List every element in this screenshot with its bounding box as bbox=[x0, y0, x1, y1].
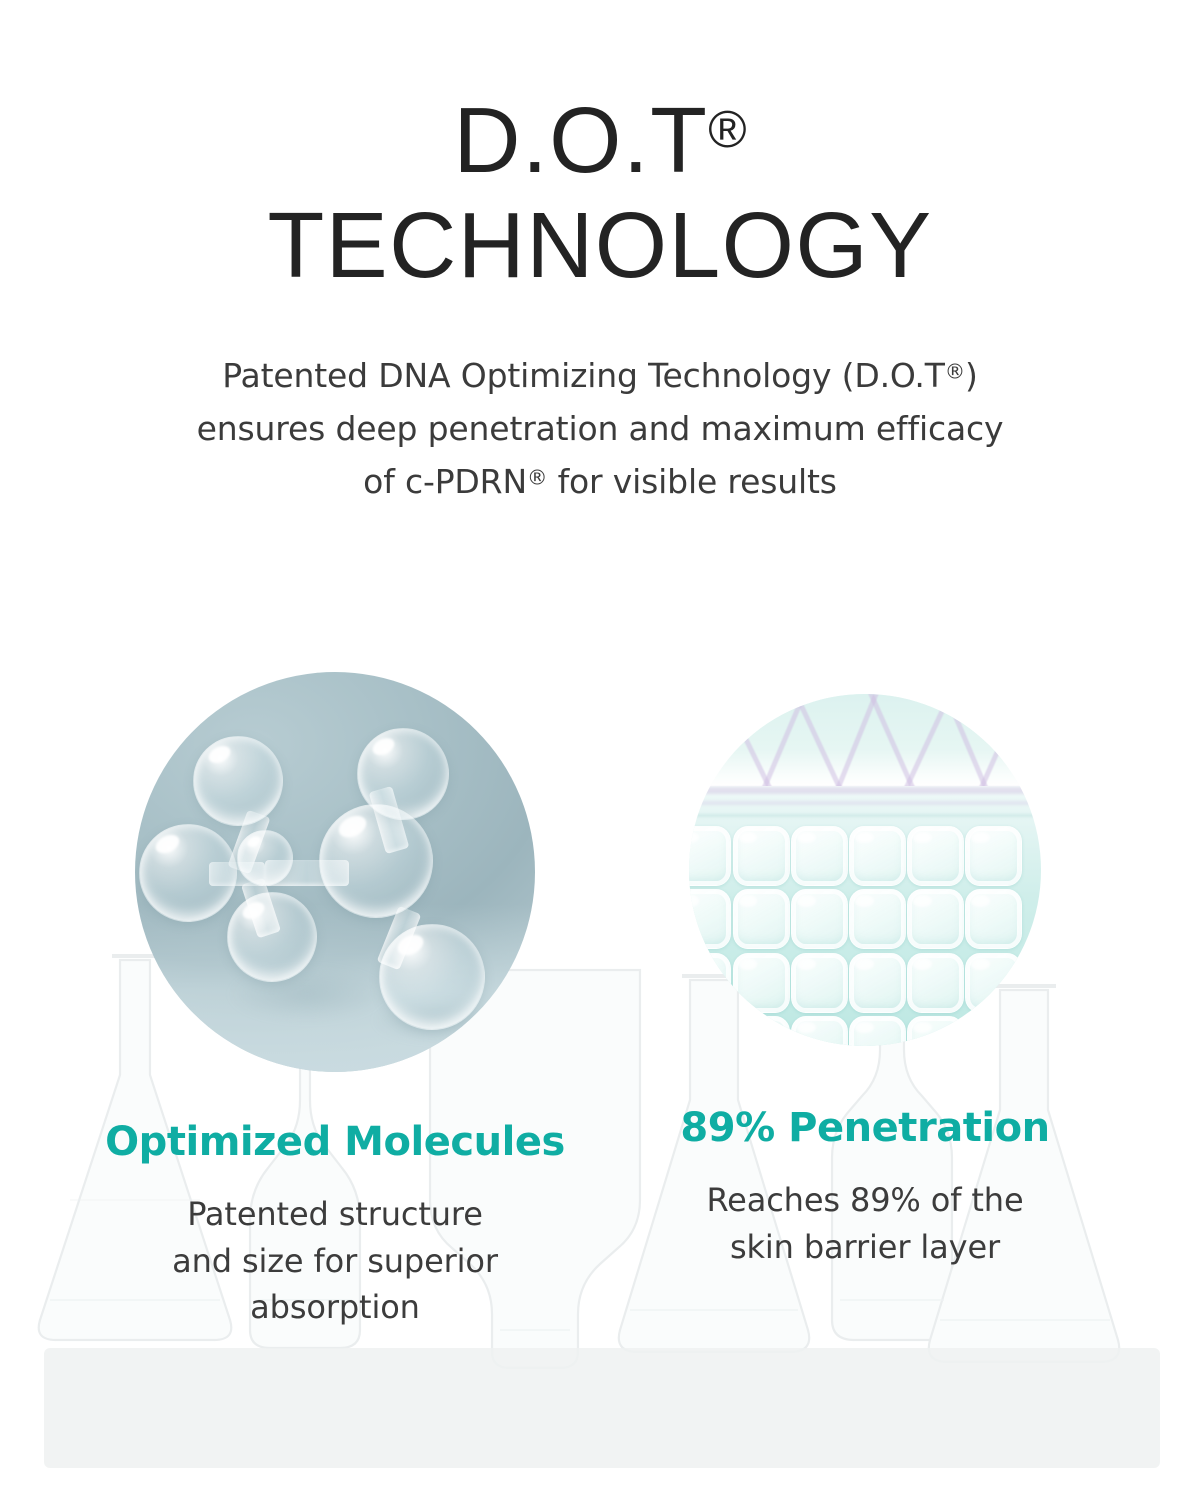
zigzag-line bbox=[975, 694, 1028, 786]
registered-trademark-icon: ® bbox=[527, 466, 547, 490]
molecule-atom-center bbox=[319, 804, 433, 918]
barrier-cell bbox=[733, 826, 790, 886]
skin-surface-band bbox=[689, 694, 1041, 786]
barrier-circle-wrap bbox=[689, 694, 1041, 1046]
feature-body-line: skin barrier layer bbox=[615, 1224, 1115, 1271]
barrier-seam bbox=[689, 787, 1041, 794]
barrier-cell bbox=[965, 826, 1022, 886]
feature-optimized-molecules: Optimized Molecules Patented structure a… bbox=[85, 672, 585, 1331]
barrier-cell bbox=[733, 889, 790, 949]
barrier-cell bbox=[849, 1016, 906, 1046]
zigzag-line bbox=[791, 694, 846, 786]
subtitle-line-3: of c-PDRN® for visible results bbox=[100, 455, 1100, 508]
barrier-cell bbox=[791, 826, 848, 886]
title-line-dot: D.O.T® bbox=[0, 96, 1200, 185]
barrier-cell bbox=[907, 953, 964, 1013]
feature-body: Reaches 89% of the skin barrier layer bbox=[615, 1177, 1115, 1270]
barrier-seam bbox=[689, 801, 1041, 805]
barrier-seam bbox=[689, 814, 1041, 817]
skin-barrier-lattice-illustration-icon bbox=[689, 694, 1041, 1046]
barrier-cell bbox=[733, 953, 790, 1013]
barrier-cell bbox=[849, 826, 906, 886]
barrier-cell bbox=[791, 1016, 848, 1046]
molecule-circle-wrap bbox=[135, 672, 535, 1072]
molecule-atom bbox=[379, 924, 485, 1030]
barrier-cell bbox=[907, 889, 964, 949]
registered-trademark-icon: ® bbox=[945, 359, 965, 383]
molecule-atom-center bbox=[237, 830, 293, 886]
barrier-cell bbox=[791, 889, 848, 949]
molecule-illustration-icon bbox=[135, 672, 535, 1072]
page-subtitle: Patented DNA Optimizing Technology (D.O.… bbox=[100, 349, 1100, 509]
barrier-cell bbox=[965, 889, 1022, 949]
molecule-atom bbox=[193, 736, 283, 826]
subtitle-line-2: ensures deep penetration and maximum eff… bbox=[100, 402, 1100, 455]
subtitle-line-1-text-b: ) bbox=[965, 356, 978, 395]
zigzag-line bbox=[941, 694, 992, 786]
title-dot-text: D.O.T bbox=[453, 88, 708, 192]
molecule-atom bbox=[227, 892, 317, 982]
barrier-cell bbox=[689, 953, 731, 1013]
subtitle-line-1-text-a: Patented DNA Optimizing Technology (D.O.… bbox=[222, 356, 944, 395]
feature-body-line: Patented structure bbox=[85, 1191, 585, 1238]
barrier-cell bbox=[689, 826, 731, 886]
barrier-cell bbox=[849, 953, 906, 1013]
barrier-cell bbox=[791, 953, 848, 1013]
barrier-cell bbox=[965, 953, 1022, 1013]
subtitle-line-1: Patented DNA Optimizing Technology (D.O.… bbox=[100, 349, 1100, 402]
feature-body-line: absorption bbox=[85, 1284, 585, 1331]
feature-heading: 89% Penetration bbox=[615, 1106, 1115, 1151]
feature-penetration: 89% Penetration Reaches 89% of the skin … bbox=[615, 672, 1115, 1270]
barrier-cell bbox=[689, 889, 731, 949]
registered-trademark-icon: ® bbox=[708, 101, 746, 159]
subtitle-line-3-text-b: for visible results bbox=[547, 462, 837, 501]
dot-technology-infographic: D.O.T® TECHNOLOGY Patented DNA Optimizin… bbox=[0, 0, 1200, 1500]
barrier-cell bbox=[733, 1016, 790, 1046]
subtitle-line-3-text-a: of c-PDRN bbox=[363, 462, 527, 501]
feature-heading: Optimized Molecules bbox=[85, 1120, 585, 1165]
barrier-cell bbox=[907, 1016, 964, 1046]
molecule-atom bbox=[139, 824, 237, 922]
feature-body-line: and size for superior bbox=[85, 1238, 585, 1285]
barrier-cell bbox=[849, 889, 906, 949]
feature-body: Patented structure and size for superior… bbox=[85, 1191, 585, 1331]
feature-body-line: Reaches 89% of the bbox=[615, 1177, 1115, 1224]
page-header: D.O.T® TECHNOLOGY Patented DNA Optimizin… bbox=[0, 0, 1200, 509]
page-title: D.O.T® TECHNOLOGY bbox=[0, 0, 1200, 291]
title-line-technology: TECHNOLOGY bbox=[0, 201, 1200, 290]
barrier-cell bbox=[907, 826, 964, 886]
feature-columns: Optimized Molecules Patented structure a… bbox=[0, 672, 1200, 1331]
